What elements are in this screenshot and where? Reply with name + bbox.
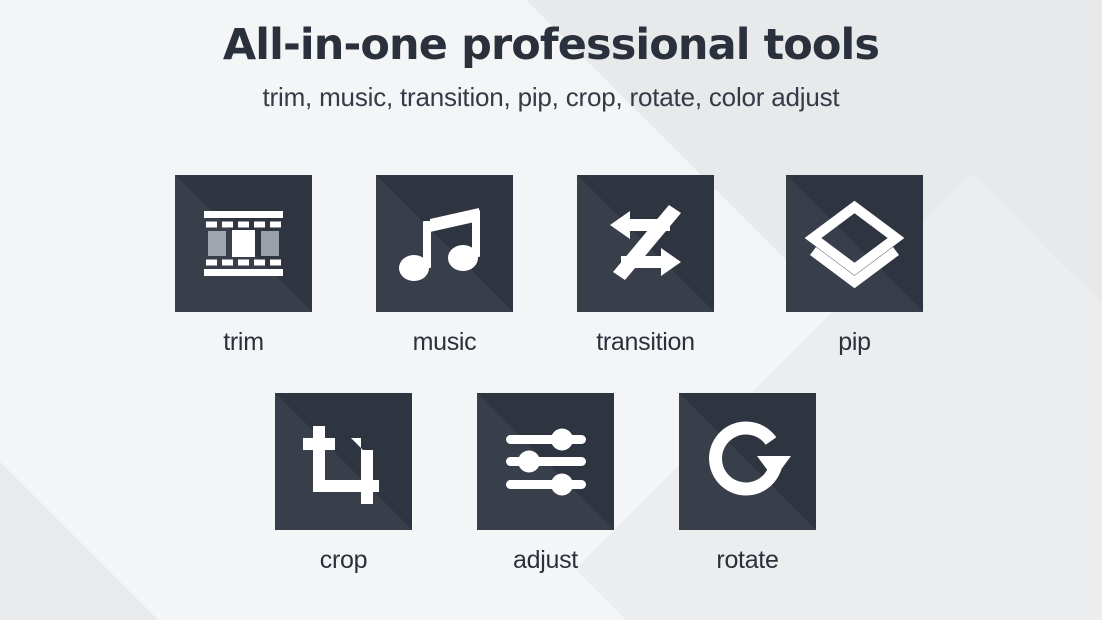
tool-item-pip[interactable]: pip	[786, 175, 923, 357]
tool-tile-pip[interactable]	[786, 175, 923, 312]
tool-tile-trim[interactable]	[175, 175, 312, 312]
tool-row-top: trim music	[0, 175, 1102, 385]
page-subtitle: trim, music, transition, pip, crop, rota…	[0, 82, 1102, 113]
tool-label: pip	[786, 328, 923, 357]
tool-item-trim[interactable]: trim	[175, 175, 312, 357]
sliders-icon	[477, 393, 614, 530]
tool-label: rotate	[679, 546, 816, 575]
tool-tile-transition[interactable]	[577, 175, 714, 312]
film-strip-icon	[175, 175, 312, 312]
tool-item-music[interactable]: music	[376, 175, 513, 357]
tool-label: crop	[275, 546, 412, 575]
tool-tile-rotate[interactable]	[679, 393, 816, 530]
tool-item-adjust[interactable]: adjust	[477, 393, 614, 575]
tool-label: music	[376, 328, 513, 357]
tool-item-transition[interactable]: transition	[577, 175, 714, 357]
tool-label: adjust	[477, 546, 614, 575]
layers-icon	[786, 175, 923, 312]
tool-tile-crop[interactable]	[275, 393, 412, 530]
rotate-cw-icon	[679, 393, 816, 530]
tool-label: transition	[577, 328, 714, 357]
music-note-icon	[376, 175, 513, 312]
crop-icon	[275, 393, 412, 530]
tool-label: trim	[175, 328, 312, 357]
tool-tile-music[interactable]	[376, 175, 513, 312]
tool-row-bottom: crop adjust	[0, 393, 1102, 603]
tool-tile-adjust[interactable]	[477, 393, 614, 530]
transition-arrows-icon	[577, 175, 714, 312]
tool-item-rotate[interactable]: rotate	[679, 393, 816, 575]
page-title: All-in-one professional tools	[0, 20, 1102, 70]
tool-item-crop[interactable]: crop	[275, 393, 412, 575]
